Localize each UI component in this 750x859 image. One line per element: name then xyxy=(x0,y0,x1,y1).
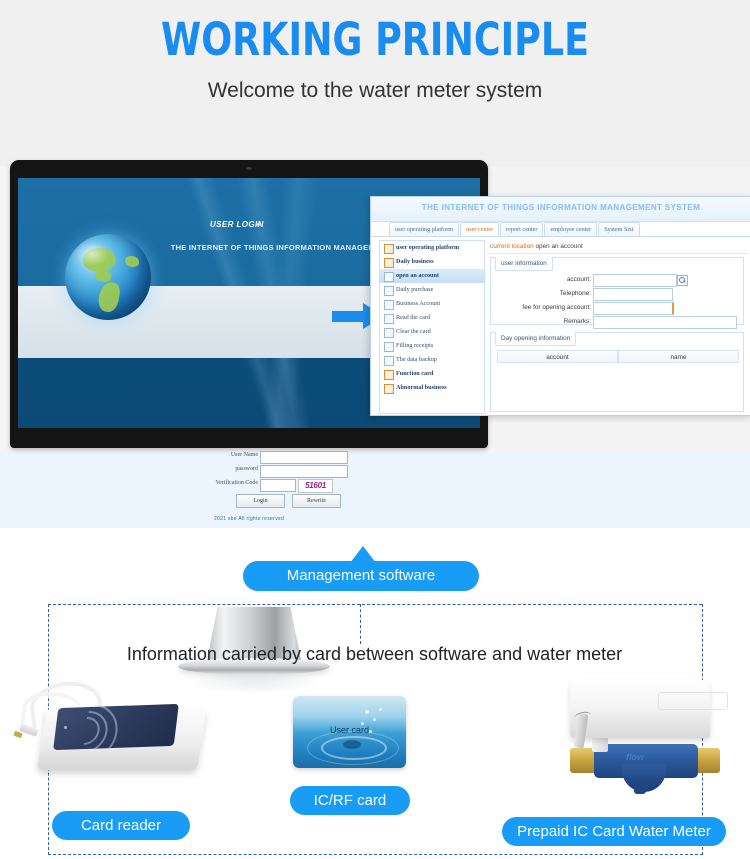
password-input[interactable] xyxy=(260,465,348,478)
telephone-label: Telephone: xyxy=(560,288,591,300)
username-label: User Name xyxy=(231,452,258,458)
column-header-name: name xyxy=(618,350,739,363)
management-window-title: THE INTERNET OF THINGS INFORMATION MANAG… xyxy=(371,203,750,212)
form-row-telephone: Telephone: xyxy=(497,288,737,300)
login-copyright: 2021 xbe All rights reserved xyxy=(18,516,480,522)
page-icon xyxy=(384,328,394,338)
folder-icon xyxy=(384,384,394,394)
page-icon xyxy=(384,342,394,352)
sidebar-item-label: Abnormal business xyxy=(396,384,447,391)
page-icon xyxy=(384,356,394,366)
globe-landmass xyxy=(97,280,122,313)
sidebar-item-daily-business[interactable]: Daily business xyxy=(380,255,484,269)
card-reader-label: Card reader xyxy=(52,811,190,840)
management-tab-bar: user operating platform user center repo… xyxy=(389,222,640,236)
management-window-header: THE INTERNET OF THINGS INFORMATION MANAG… xyxy=(371,197,750,222)
card-face-text: User card xyxy=(293,725,406,735)
usb-connector-tip xyxy=(13,731,22,738)
login-row-username: User Name xyxy=(198,451,348,463)
page-icon xyxy=(384,314,394,324)
meter-top-housing xyxy=(570,680,710,738)
login-row-password: password xyxy=(198,465,348,477)
sidebar-item-read-the-card[interactable]: Read the card xyxy=(380,311,484,325)
sidebar-item-label: Business Account xyxy=(396,300,440,307)
meter-brand-mark: flow xyxy=(626,752,644,762)
globe-icon xyxy=(65,234,151,320)
tab-report-center[interactable]: report center xyxy=(500,222,543,236)
search-icon[interactable] xyxy=(677,275,688,286)
tab-system-settings[interactable]: System Sett xyxy=(598,222,639,236)
dashed-caption: Information carried by card between soft… xyxy=(48,644,701,665)
folder-icon xyxy=(384,244,394,254)
fee-label: fee for opening account: xyxy=(522,302,591,314)
globe-landmass xyxy=(95,270,111,282)
meter-housing-seam xyxy=(658,692,728,710)
breadcrumb: current location open an account xyxy=(487,240,748,254)
sidebar-item-abnormal-business[interactable]: Abnormal business xyxy=(380,381,484,395)
management-software-label: Management software xyxy=(243,561,479,591)
verification-code-label: Verification Code xyxy=(216,480,259,486)
page-header: WORKING PRINCIPLE Welcome to the water m… xyxy=(0,14,750,106)
management-main-panel: current location open an account user in… xyxy=(487,240,745,412)
water-meter-image: flow xyxy=(548,676,738,796)
sidebar-item-label: Filling receipts xyxy=(396,342,433,349)
dashed-top-left-segment xyxy=(48,604,360,605)
water-meter-label: Prepaid IC Card Water Meter xyxy=(502,817,726,846)
card-reader-panel xyxy=(53,704,179,750)
breadcrumb-current: open an account xyxy=(535,243,582,250)
page-icon xyxy=(384,286,394,296)
folder-icon xyxy=(384,258,394,268)
sidebar-item-label: Daily business xyxy=(396,258,434,265)
table-header-row: account name xyxy=(497,350,739,363)
ic-rf-card-image: User card xyxy=(293,696,406,768)
sidebar-item-clear-the-card[interactable]: Clear the card xyxy=(380,325,484,339)
sidebar-item-label: Daily purchase xyxy=(396,286,433,293)
tab-user-center[interactable]: user center xyxy=(460,222,499,236)
globe-highlight xyxy=(75,242,109,266)
management-window: THE INTERNET OF THINGS INFORMATION MANAG… xyxy=(370,196,750,416)
page-title: WORKING PRINCIPLE xyxy=(38,14,713,66)
user-information-panel: user information account: Telephone: fee… xyxy=(490,257,744,325)
globe-landmass xyxy=(125,256,139,267)
meter-spout xyxy=(634,786,646,794)
page-subtitle: Welcome to the water meter system xyxy=(0,76,750,106)
sidebar-item-label: The data backup xyxy=(396,356,437,363)
breadcrumb-prefix: current location xyxy=(490,243,534,250)
card-splash-droplet xyxy=(379,708,382,711)
verification-code-input[interactable] xyxy=(260,479,296,492)
sidebar-item-open-an-account[interactable]: open an account xyxy=(380,269,484,283)
folder-icon xyxy=(384,370,394,380)
sidebar-item-business-account[interactable]: Business Account xyxy=(380,297,484,311)
sidebar-item-daily-purchase[interactable]: Daily purchase xyxy=(380,283,484,297)
day-opening-table: account name xyxy=(497,350,739,363)
account-label: account: xyxy=(567,274,591,286)
rewrite-button[interactable]: Rewrite xyxy=(292,494,341,508)
remarks-label: Remarks: xyxy=(564,316,591,328)
ic-rf-card-label: IC/RF card xyxy=(290,786,410,815)
telephone-input[interactable] xyxy=(593,288,673,301)
form-row-fee: fee for opening account: xyxy=(497,302,737,314)
remarks-input[interactable] xyxy=(593,316,737,329)
page-icon xyxy=(384,272,394,282)
sidebar-item-function-card[interactable]: Function card xyxy=(380,367,484,381)
sidebar-item-label: Read the card xyxy=(396,314,430,321)
arrow-shaft xyxy=(332,311,366,322)
sidebar-item-user-operating-platform[interactable]: user operating platform xyxy=(380,241,484,255)
sidebar-item-label: user operating platform xyxy=(396,244,459,251)
user-login-bullet-icon xyxy=(257,223,260,226)
dashed-connector-line xyxy=(360,604,361,644)
card-water-drop xyxy=(343,740,361,749)
management-window-body: user operating platform Daily business o… xyxy=(371,236,750,416)
sidebar-item-label: open an account xyxy=(396,272,439,279)
page-icon xyxy=(384,300,394,310)
card-reader-image xyxy=(12,678,212,783)
user-login-label: USER LOGIN xyxy=(210,220,264,229)
dashed-top-right-segment xyxy=(362,604,702,605)
management-sidebar: user operating platform Daily business o… xyxy=(379,240,485,414)
user-information-tab[interactable]: user information xyxy=(495,257,553,271)
day-opening-panel: Day opening information account name xyxy=(490,332,744,412)
login-button[interactable]: Login xyxy=(236,494,285,508)
sidebar-item-label: Function card xyxy=(396,370,433,377)
sidebar-item-the-data-backup[interactable]: The data backup xyxy=(380,353,484,367)
card-reader-led xyxy=(64,726,67,729)
sidebar-item-filling-receipts[interactable]: Filling receipts xyxy=(380,339,484,353)
password-label: password xyxy=(235,466,258,472)
card-splash-droplet xyxy=(373,718,376,721)
day-opening-tab[interactable]: Day opening information xyxy=(495,332,576,346)
account-input[interactable] xyxy=(593,274,677,287)
username-input[interactable] xyxy=(260,451,348,464)
tab-employee-center[interactable]: employee center xyxy=(544,222,597,236)
form-row-account: account: xyxy=(497,274,737,286)
column-header-account: account xyxy=(497,350,618,363)
captcha-image[interactable]: 51601 xyxy=(298,479,333,493)
form-row-remarks: Remarks: xyxy=(497,316,737,328)
fee-input[interactable] xyxy=(593,302,674,315)
tab-user-operating-platform[interactable]: user operating platform xyxy=(389,222,459,236)
card-splash-droplet xyxy=(365,710,369,714)
sidebar-item-label: Clear the card xyxy=(396,328,431,335)
